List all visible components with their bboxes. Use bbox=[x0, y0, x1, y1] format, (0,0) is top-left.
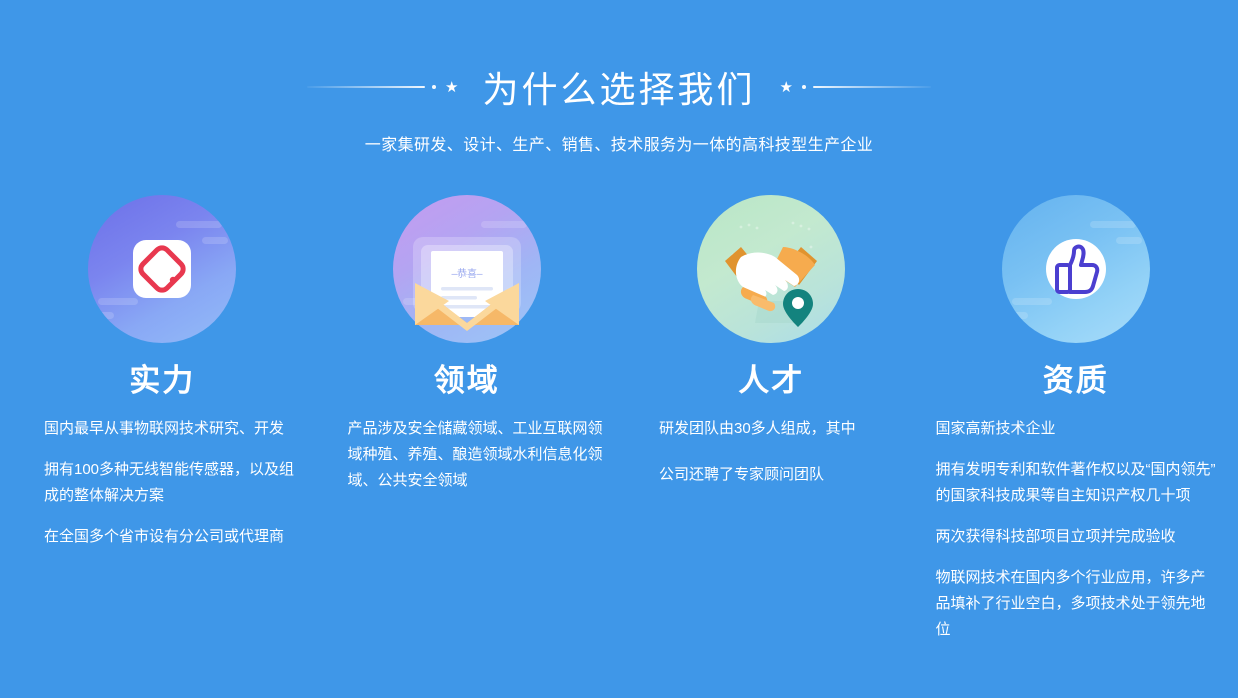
feature-item: 公司还聘了专家顾问团队 bbox=[659, 462, 910, 488]
title-row: ★ 为什么选择我们 ★ bbox=[0, 62, 1238, 112]
column-body-talent: 研发团队由30多人组成，其中 公司还聘了专家顾问团队 bbox=[619, 416, 924, 508]
feature-column-talent: 人才 研发团队由30多人组成，其中 公司还聘了专家顾问团队 bbox=[619, 195, 924, 508]
feature-item: 物联网技术在国内多个行业应用，许多产品填补了行业空白，多项技术处于领先地位 bbox=[936, 565, 1219, 643]
svg-text:–恭喜–: –恭喜– bbox=[451, 267, 483, 280]
feature-column-fields: –恭喜– 领域 产品涉及安全储藏领域、工业互联网领域种殖、养殖、酿造领域水利信息… bbox=[315, 195, 620, 494]
column-body-qualification: 国家高新技术企业 拥有发明专利和软件著作权以及“国内领先”的国家科技成果等自主知… bbox=[924, 416, 1229, 643]
icon-qualification-wrapper bbox=[1002, 195, 1150, 343]
icon-strength-wrapper bbox=[88, 195, 236, 343]
feature-columns: 实力 国内最早从事物联网技术研究、开发 拥有100多种无线智能传感器，以及组成的… bbox=[0, 195, 1238, 643]
feature-column-strength: 实力 国内最早从事物联网技术研究、开发 拥有100多种无线智能传感器，以及组成的… bbox=[10, 195, 315, 550]
handshake-icon bbox=[697, 195, 845, 343]
feature-item: 拥有100多种无线智能传感器，以及组成的整体解决方案 bbox=[44, 457, 303, 509]
feature-item: 研发团队由30多人组成，其中 bbox=[659, 416, 910, 442]
feature-item: 国家高新技术企业 bbox=[936, 416, 1219, 442]
feature-item: 两次获得科技部项目立项并完成验收 bbox=[936, 524, 1219, 550]
column-heading-strength: 实力 bbox=[129, 355, 195, 400]
column-heading-fields: 领域 bbox=[434, 355, 500, 400]
star-icon-right: ★ bbox=[780, 80, 793, 95]
page-subtitle: 一家集研发、设计、生产、销售、技术服务为一体的高科技型生产企业 bbox=[0, 131, 1238, 155]
page-title: 为什么选择我们 bbox=[460, 61, 777, 113]
icon-fields-wrapper: –恭喜– bbox=[393, 195, 541, 343]
envelope-letter-icon: –恭喜– bbox=[393, 195, 541, 343]
column-heading-talent: 人才 bbox=[738, 355, 804, 400]
feature-item: 拥有发明专利和软件著作权以及“国内领先”的国家科技成果等自主知识产权几十项 bbox=[936, 457, 1219, 509]
title-decoration-left: ★ bbox=[307, 77, 460, 97]
title-decoration-right: ★ bbox=[778, 77, 931, 97]
feature-item: 在全国多个省市设有分公司或代理商 bbox=[44, 524, 303, 550]
star-icon-left: ★ bbox=[445, 80, 458, 95]
thumbs-up-icon bbox=[1002, 195, 1150, 343]
decoration-dot-right bbox=[802, 85, 806, 89]
decoration-dot-left bbox=[432, 85, 436, 89]
section-header: ★ 为什么选择我们 ★ 一家集研发、设计、生产、销售、技术服务为一体的高科技型生… bbox=[0, 0, 1238, 155]
column-body-fields: 产品涉及安全储藏领域、工业互联网领域种殖、养殖、酿造领域水利信息化领域、公共安全… bbox=[315, 416, 620, 494]
gem-diamond-icon bbox=[88, 195, 236, 343]
column-body-strength: 国内最早从事物联网技术研究、开发 拥有100多种无线智能传感器，以及组成的整体解… bbox=[10, 416, 315, 550]
column-heading-qualification: 资质 bbox=[1043, 355, 1109, 400]
icon-talent-wrapper bbox=[697, 195, 845, 343]
decoration-line-right bbox=[813, 86, 931, 88]
feature-column-qualification: 资质 国家高新技术企业 拥有发明专利和软件著作权以及“国内领先”的国家科技成果等… bbox=[924, 195, 1229, 643]
feature-item: 产品涉及安全储藏领域、工业互联网领域种殖、养殖、酿造领域水利信息化领域、公共安全… bbox=[348, 416, 612, 494]
feature-item: 国内最早从事物联网技术研究、开发 bbox=[44, 416, 303, 442]
decoration-line-left bbox=[307, 86, 425, 88]
